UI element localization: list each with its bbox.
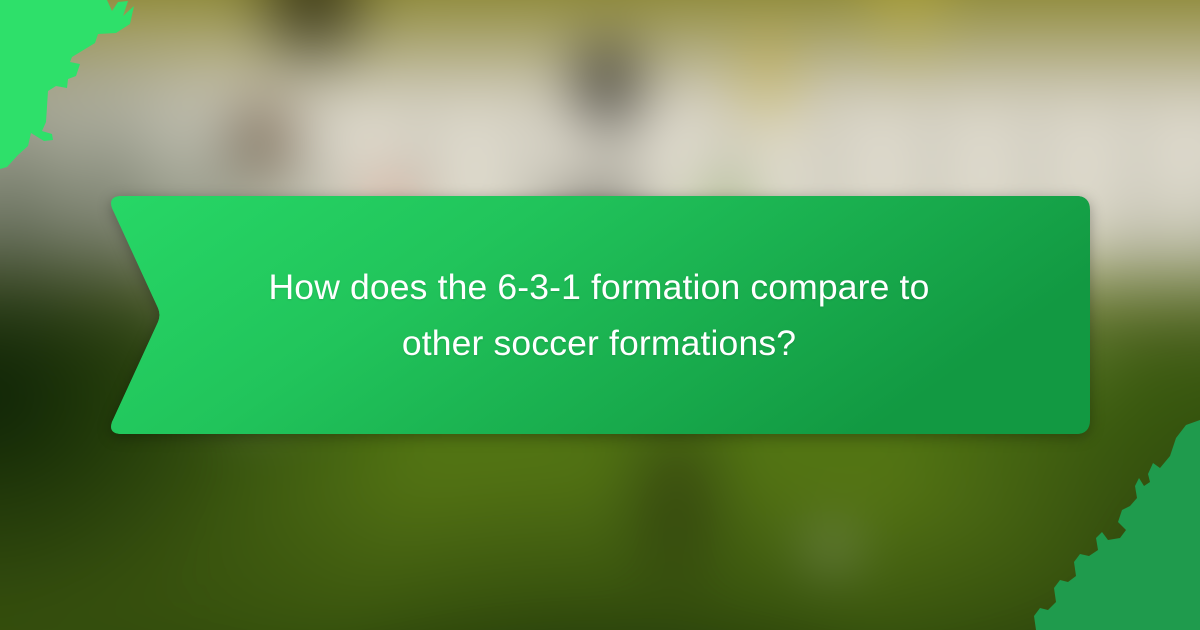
question-ribbon: How does the 6-3-1 formation compare to … bbox=[108, 196, 1090, 434]
ribbon-heading: How does the 6-3-1 formation compare to … bbox=[108, 196, 1090, 434]
ribbon-heading-line-1: How does the 6-3-1 formation compare to bbox=[269, 259, 930, 315]
ribbon-heading-line-2: other soccer formations? bbox=[402, 315, 796, 371]
social-card: How does the 6-3-1 formation compare to … bbox=[0, 0, 1200, 630]
